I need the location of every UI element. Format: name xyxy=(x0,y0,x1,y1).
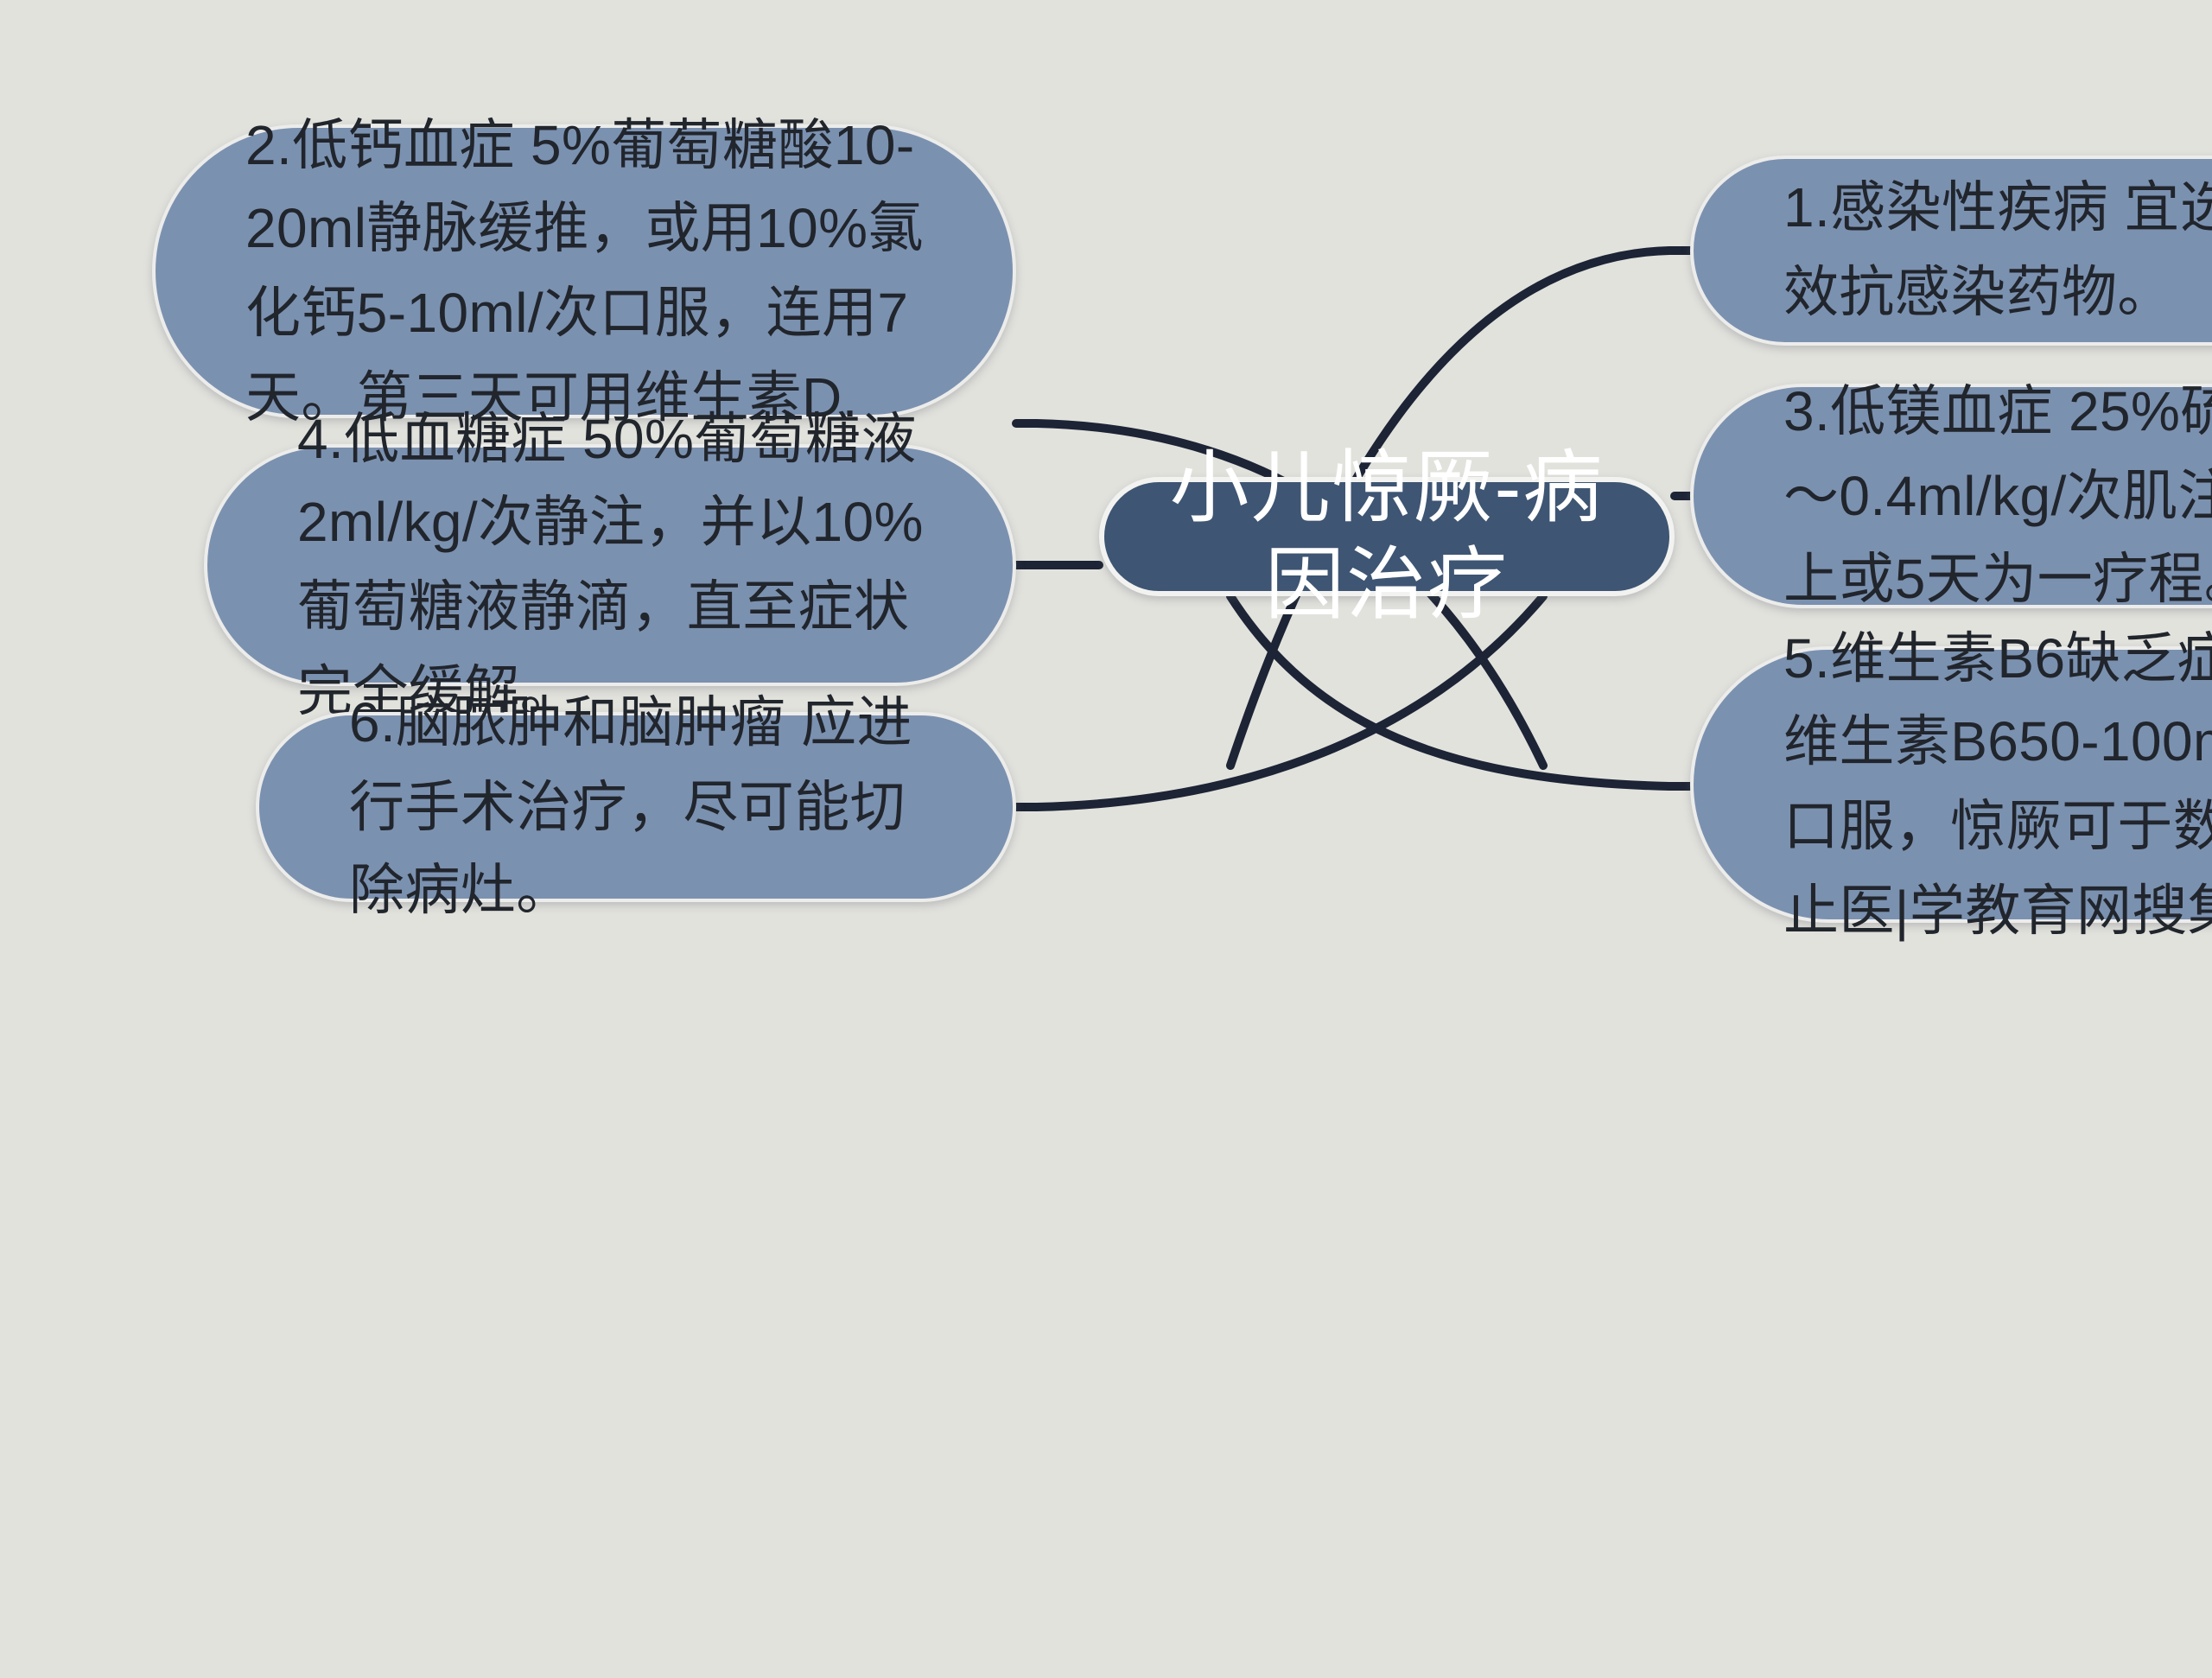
center-node[interactable]: 小儿惊厥-病因治疗 xyxy=(1099,477,1675,596)
branch-node-6[interactable]: 6.脑脓肿和脑肿瘤 应进行手术治疗，尽可能切除病灶。 xyxy=(256,712,1016,902)
branch-node-3-label: 3.低镁血症 25%硫酸镁0.2～0.4ml/kg/次肌注 4次以上或5天为一疗… xyxy=(1694,370,2212,622)
branch-node-1[interactable]: 1.感染性疾病 宜选用有效抗感染药物。 xyxy=(1690,156,2212,346)
branch-node-5-label: 5.维生素B6缺乏症 可给予维生素B650-100mg静注或口服，惊厥可于数分钟… xyxy=(1694,617,2212,953)
branch-node-5[interactable]: 5.维生素B6缺乏症 可给予维生素B650-100mg静注或口服，惊厥可于数分钟… xyxy=(1690,646,2212,923)
branch-node-3[interactable]: 3.低镁血症 25%硫酸镁0.2～0.4ml/kg/次肌注 4次以上或5天为一疗… xyxy=(1690,384,2212,608)
branch-node-2-label: 2.低钙血症 5%葡萄糖酸10-20ml静脉缓推，或用10%氯化钙5-10ml/… xyxy=(156,104,1013,440)
branch-node-6-label: 6.脑脓肿和脑肿瘤 应进行手术治疗，尽可能切除病灶。 xyxy=(259,681,1013,933)
center-node-label: 小儿惊厥-病因治疗 xyxy=(1104,442,1669,632)
branch-node-4[interactable]: 4.低血糖症 50%葡萄糖液2ml/kg/次静注，并以10%葡萄糖液静滴，直至症… xyxy=(204,444,1016,686)
branch-node-2[interactable]: 2.低钙血症 5%葡萄糖酸10-20ml静脉缓推，或用10%氯化钙5-10ml/… xyxy=(152,124,1016,418)
branch-node-1-label: 1.感染性疾病 宜选用有效抗感染药物。 xyxy=(1694,167,2212,335)
mindmap-canvas: 2.低钙血症 5%葡萄糖酸10-20ml静脉缓推，或用10%氯化钙5-10ml/… xyxy=(0,0,2212,840)
